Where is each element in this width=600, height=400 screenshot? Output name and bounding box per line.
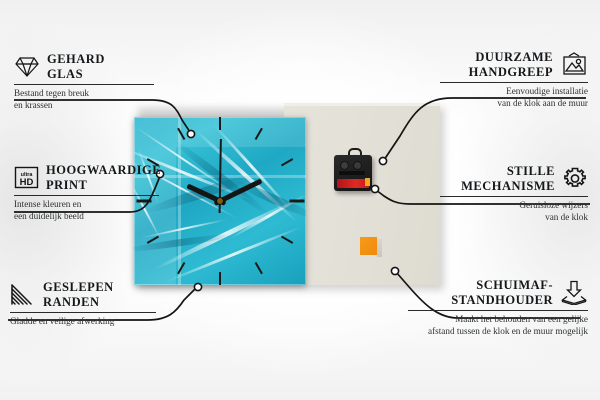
feature-desc-line1: Bestand tegen breuk [14, 88, 154, 100]
feature-schuimafstandhouder: SCHUIMAF- STANDHOUDER Maakt het behouden… [408, 278, 588, 337]
feature-desc-line2: afstand tussen de klok en de muur mogeli… [408, 326, 588, 338]
feature-stille-mechanisme: STILLE MECHANISME Geruisloze wijzers van… [440, 164, 588, 223]
feature-rule [10, 312, 156, 313]
infographic-canvas: GEHARD GLAS Bestand tegen breuk en krass… [0, 0, 600, 400]
feature-desc-line2: en krassen [14, 100, 154, 112]
feature-title-line2: HANDGREEP [469, 65, 553, 80]
feature-title-line2: PRINT [46, 178, 161, 193]
beveled-edge-icon [10, 283, 36, 306]
feature-title-line1: HOOGWAARDIGE [46, 163, 161, 178]
gear-icon [562, 166, 588, 191]
feature-gehard-glas: GEHARD GLAS Bestand tegen breuk en krass… [14, 52, 154, 111]
feature-title-line1: DUURZAME [469, 50, 553, 65]
feature-hoogwaardige-print: ultra HD HOOGWAARDIGE PRINT Intense kleu… [14, 163, 159, 222]
feature-desc-line1: Intense kleuren en [14, 199, 159, 211]
feature-duurzame-handgreep: DUURZAME HANDGREEP Eenvoudige installati… [440, 50, 588, 109]
press-down-icon [560, 280, 588, 305]
feature-rule [14, 195, 159, 196]
feature-geslepen-randen: GESLEPEN RANDEN Gladde en veilige afwerk… [10, 280, 160, 328]
connector-dot-schuimafstandhouder [391, 267, 398, 274]
feature-desc-line1: Maakt het behouden van een gelijke [408, 314, 588, 326]
feature-title-line1: GESLEPEN [43, 280, 114, 295]
connector-dot-stille-mechanisme [371, 185, 378, 192]
feature-title-line2: MECHANISME [461, 179, 555, 194]
feature-title-line2: RANDEN [43, 295, 114, 310]
feature-desc-line2: van de klok aan de muur [440, 98, 588, 110]
feature-title-line1: SCHUIMAF- [451, 278, 553, 293]
feature-title-line1: STILLE [461, 164, 555, 179]
diamond-icon [14, 56, 40, 78]
feature-desc-line2: een duidelijk beeld [14, 211, 159, 223]
connector-dot-duurzame-handgreep [379, 157, 386, 164]
ultra-hd-icon: ultra HD [14, 166, 39, 189]
feature-desc-line1: Geruisloze wijzers [440, 200, 588, 212]
ultra-hd-icon-large-label: HD [20, 177, 34, 188]
feature-desc-line1: Gladde en veilige afwerking [10, 316, 160, 328]
connector-dot-gehard-glas [187, 130, 194, 137]
feature-title-line2: STANDHOUDER [451, 293, 553, 308]
feature-title-line2: GLAS [47, 67, 105, 82]
feature-title-line1: GEHARD [47, 52, 105, 67]
feature-rule [408, 310, 588, 311]
connector-dot-geslepen-randen [194, 283, 201, 290]
feature-rule [440, 82, 588, 83]
picture-hanger-icon [560, 52, 588, 77]
feature-desc-line2: van de klok [440, 212, 588, 224]
feature-desc-line1: Eenvoudige installatie [440, 86, 588, 98]
feature-rule [14, 84, 154, 85]
feature-rule [440, 196, 588, 197]
